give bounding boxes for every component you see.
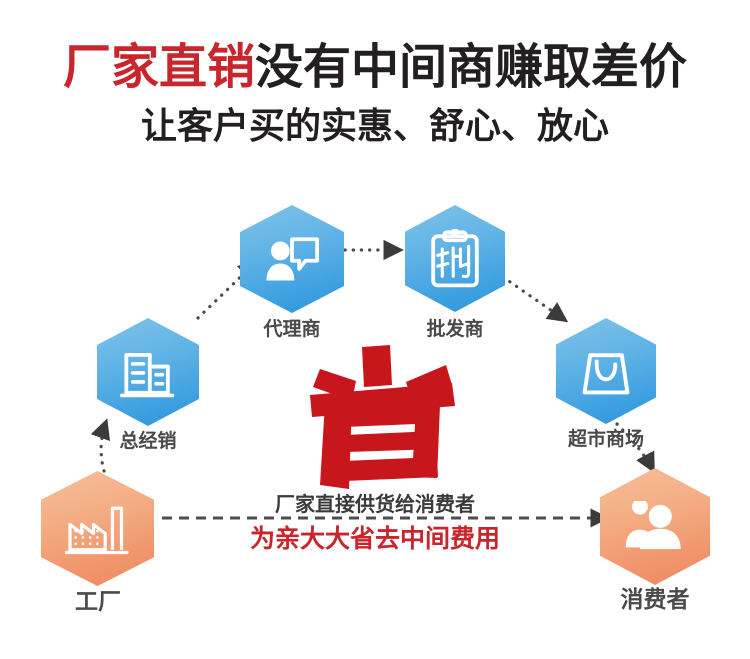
savings-stamp bbox=[300, 325, 460, 490]
node-label-supermarket: 超市商场 bbox=[546, 430, 666, 449]
node-label-distributor: 总经销 bbox=[88, 432, 208, 451]
link-wholesaler-supermarket bbox=[503, 277, 565, 320]
two-people-icon bbox=[624, 501, 686, 553]
buildings-icon bbox=[119, 344, 177, 400]
node-label-consumer: 消费者 bbox=[595, 588, 715, 611]
caption-direct-supply: 厂家直接供货给消费者 bbox=[175, 495, 575, 515]
clipboard-pi-icon bbox=[429, 229, 481, 289]
factory-icon bbox=[65, 501, 131, 557]
shopping-bag-icon bbox=[579, 344, 633, 398]
caption-savings: 为亲大大省去中间费用 bbox=[175, 527, 575, 552]
person-chat-icon bbox=[263, 233, 321, 285]
infographic-canvas: 厂家直销没有中间商赚取差价 让客户买的实惠、舒心、放心 代 bbox=[0, 0, 750, 659]
node-label-factory: 工厂 bbox=[38, 590, 158, 613]
